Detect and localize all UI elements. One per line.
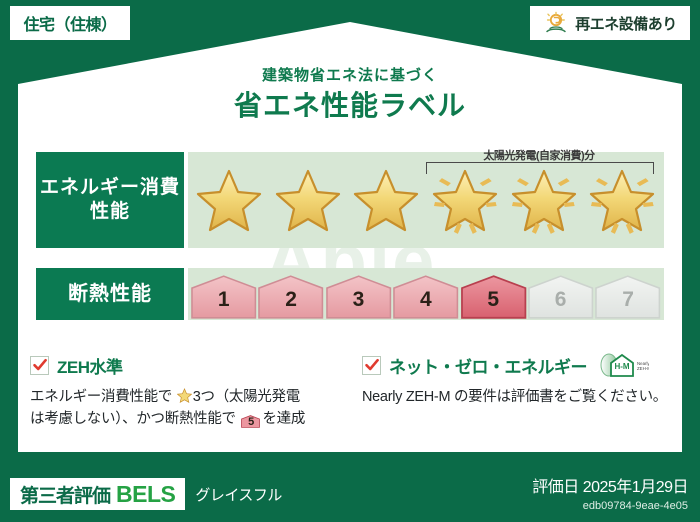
grade-label: 1: [218, 288, 230, 320]
net-zero-energy-body: Nearly ZEH-M の要件は評価書をご覧ください。: [362, 386, 674, 408]
star-item: [190, 152, 269, 248]
zeh-standard-title: ZEH水準: [57, 353, 123, 378]
evaluation-date: 評価日 2025年1月29日: [532, 473, 688, 497]
star-icon: [177, 388, 192, 403]
grade-label: 6: [555, 288, 567, 320]
zeh-body-part2: 3つ（太陽光発電: [193, 389, 300, 405]
building-type-tag-label: 住宅（住棟）: [23, 11, 116, 35]
grade-item: 1: [190, 274, 257, 320]
grade-item: 7: [594, 274, 661, 320]
net-zero-checkbox[interactable]: [362, 356, 381, 375]
grade-item: 2: [257, 274, 324, 320]
energy-performance-row-label: エネルギー消費性能: [36, 152, 184, 248]
bels-label: BELS: [116, 481, 175, 508]
zeh-m-logo-icon: H-M Nearly ZEH-M: [597, 352, 649, 378]
star-item: [269, 152, 348, 248]
star-icon: [353, 168, 419, 232]
grade-item: 3: [325, 274, 392, 320]
owner-name: グレイスフル: [195, 484, 282, 505]
grade-item: 6: [527, 274, 594, 320]
insulation-grade-scale: 1 2 3 4 5: [190, 268, 662, 320]
grade-label: 3: [353, 288, 365, 320]
grade-label: 2: [285, 288, 297, 320]
label-subtitle: 建築物省エネ法に基づく: [0, 64, 700, 85]
footer-right: 評価日 2025年1月29日 edb09784-9eae-4e05: [532, 473, 688, 512]
svg-text:H-M: H-M: [614, 362, 629, 371]
grade-item-achieved: 5: [460, 274, 527, 320]
insulation-performance-row-label-text: 断熱性能: [68, 282, 152, 307]
grade-label: 5: [487, 288, 499, 320]
net-zero-energy-title: ネット・ゼロ・エネルギー: [389, 353, 587, 378]
grade-item: 4: [392, 274, 459, 320]
energy-performance-row-label-text: エネルギー消費性能: [36, 176, 184, 224]
check-icon: [364, 357, 380, 373]
star-icon: [196, 168, 262, 232]
net-zero-energy-section: ネット・ゼロ・エネルギー H-M Nearly ZEH-M Nearly ZEH…: [362, 352, 674, 408]
third-party-evaluation-label: 第三者評価: [20, 481, 110, 508]
grade-label: 7: [622, 288, 634, 320]
solar-annotation-label: 太陽光発電(自家消費)分: [425, 147, 653, 163]
renewable-equipment-tag: 再エネ設備あり: [530, 6, 690, 40]
inline-grade-label: 5: [241, 414, 260, 430]
insulation-performance-row-label: 断熱性能: [36, 268, 184, 320]
zeh-standard-section: ZEH水準 エネルギー消費性能で 3つ（太陽光発電 は考慮しない）、かつ断熱性能…: [30, 352, 350, 431]
building-type-tag: 住宅（住棟）: [10, 6, 130, 40]
net-zero-energy-header: ネット・ゼロ・エネルギー H-M Nearly ZEH-M: [362, 352, 674, 378]
footer-left: 第三者評価 BELS グレイスフル: [10, 478, 282, 510]
sun-solar-icon: [543, 11, 569, 35]
energy-performance-label: 住宅（住棟） 再エネ設備あり 建築物省エネ法に基づく 省エネ性能ラベル Able…: [0, 0, 700, 522]
svg-text:ZEH-M: ZEH-M: [637, 366, 649, 371]
grade-label: 4: [420, 288, 432, 320]
inline-grade-badge: 5: [241, 414, 260, 429]
zeh-body-part3: は考慮しない）、かつ断熱性能で: [30, 411, 236, 427]
star-icon: [275, 168, 341, 232]
evaluation-id: edb09784-9eae-4e05: [532, 500, 688, 512]
check-icon: [32, 357, 48, 373]
zeh-standard-header: ZEH水準: [30, 352, 350, 378]
renewable-tag-label: 再エネ設備あり: [575, 13, 677, 34]
zeh-body-part1: エネルギー消費性能で: [30, 389, 172, 405]
zeh-standard-body: エネルギー消費性能で 3つ（太陽光発電 は考慮しない）、かつ断熱性能で 5 を達…: [30, 386, 350, 431]
zeh-checkbox[interactable]: [30, 356, 49, 375]
zeh-body-part4: を達成: [262, 411, 305, 427]
page-title: 省エネ性能ラベル: [0, 84, 700, 124]
bels-badge: 第三者評価 BELS: [10, 478, 185, 510]
star-item: [347, 152, 426, 248]
solar-annotation-bracket: [426, 162, 654, 174]
